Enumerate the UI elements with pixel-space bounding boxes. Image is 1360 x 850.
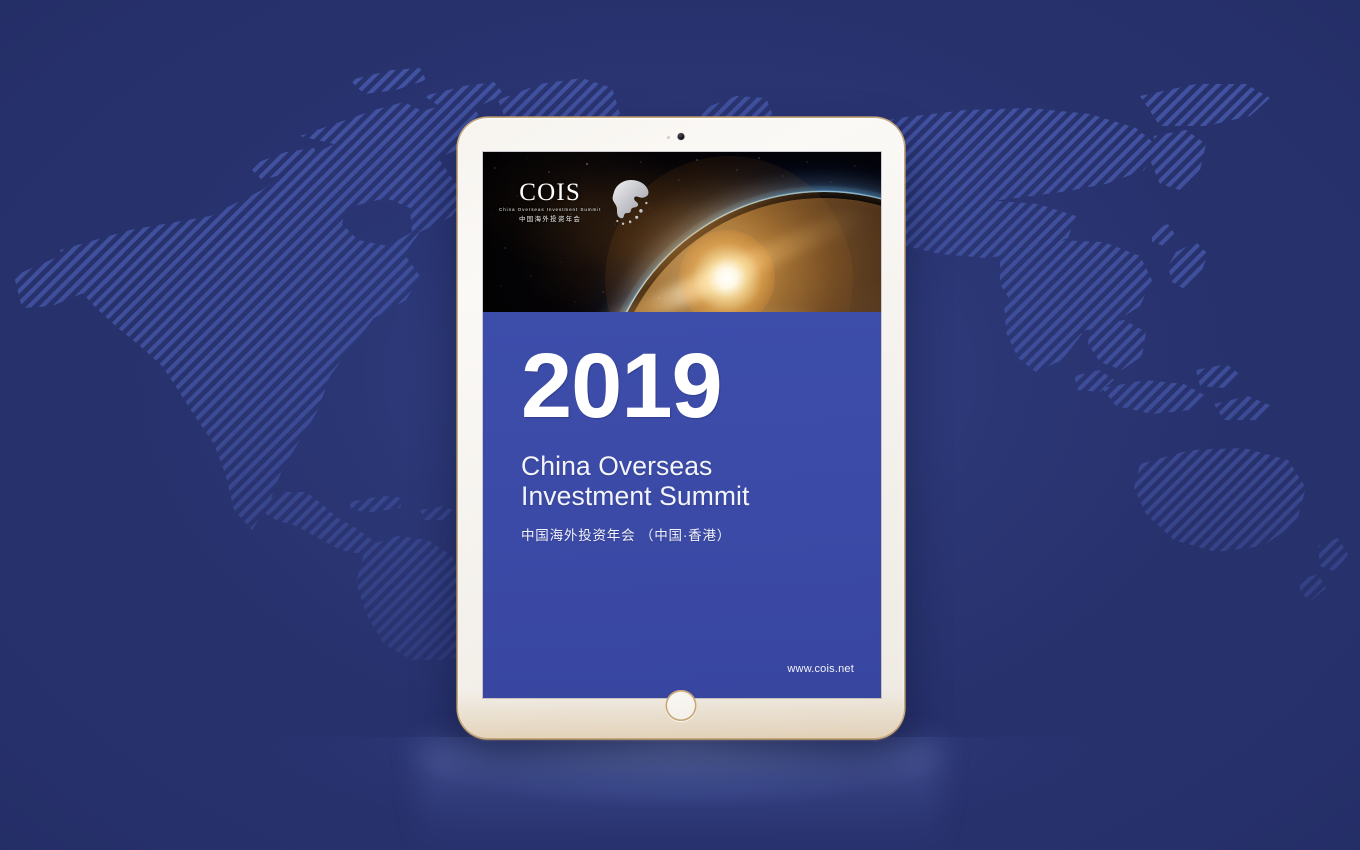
cover-year: 2019 (521, 344, 881, 429)
cover-body: 2019 China Overseas Investment Summit 中国… (483, 312, 881, 698)
logo-text-group: COIS China Overseas Investment Summit 中国… (499, 181, 601, 223)
scene-root: COIS China Overseas Investment Summit 中国… (0, 0, 1360, 850)
home-button[interactable] (666, 690, 697, 721)
tablet-screen[interactable]: COIS China Overseas Investment Summit 中国… (483, 152, 881, 698)
cover-website-url[interactable]: www.cois.net (787, 663, 854, 675)
logo-tagline-chinese: 中国海外投资年会 (519, 214, 581, 223)
front-camera-icon (678, 133, 685, 140)
cover-title-line-2: Investment Summit (521, 481, 881, 511)
logo-tagline-english: China Overseas Investment Summit (499, 207, 601, 212)
logo-wordmark: COIS (519, 181, 581, 205)
cover-subtitle-chinese: 中国海外投资年会 （中国·香港） (521, 524, 881, 544)
cover-title: China Overseas Investment Summit (521, 451, 881, 511)
ambient-light-sensor-icon (667, 136, 670, 139)
floor-reflection (420, 742, 940, 850)
asia-globe-icon (606, 176, 652, 228)
cover-title-line-1: China Overseas (521, 451, 881, 481)
floor-glow (230, 737, 1130, 850)
cover-hero-image: COIS China Overseas Investment Summit 中国… (483, 152, 881, 312)
cois-logo: COIS China Overseas Investment Summit 中国… (499, 176, 652, 228)
tablet-device: COIS China Overseas Investment Summit 中国… (458, 118, 904, 738)
